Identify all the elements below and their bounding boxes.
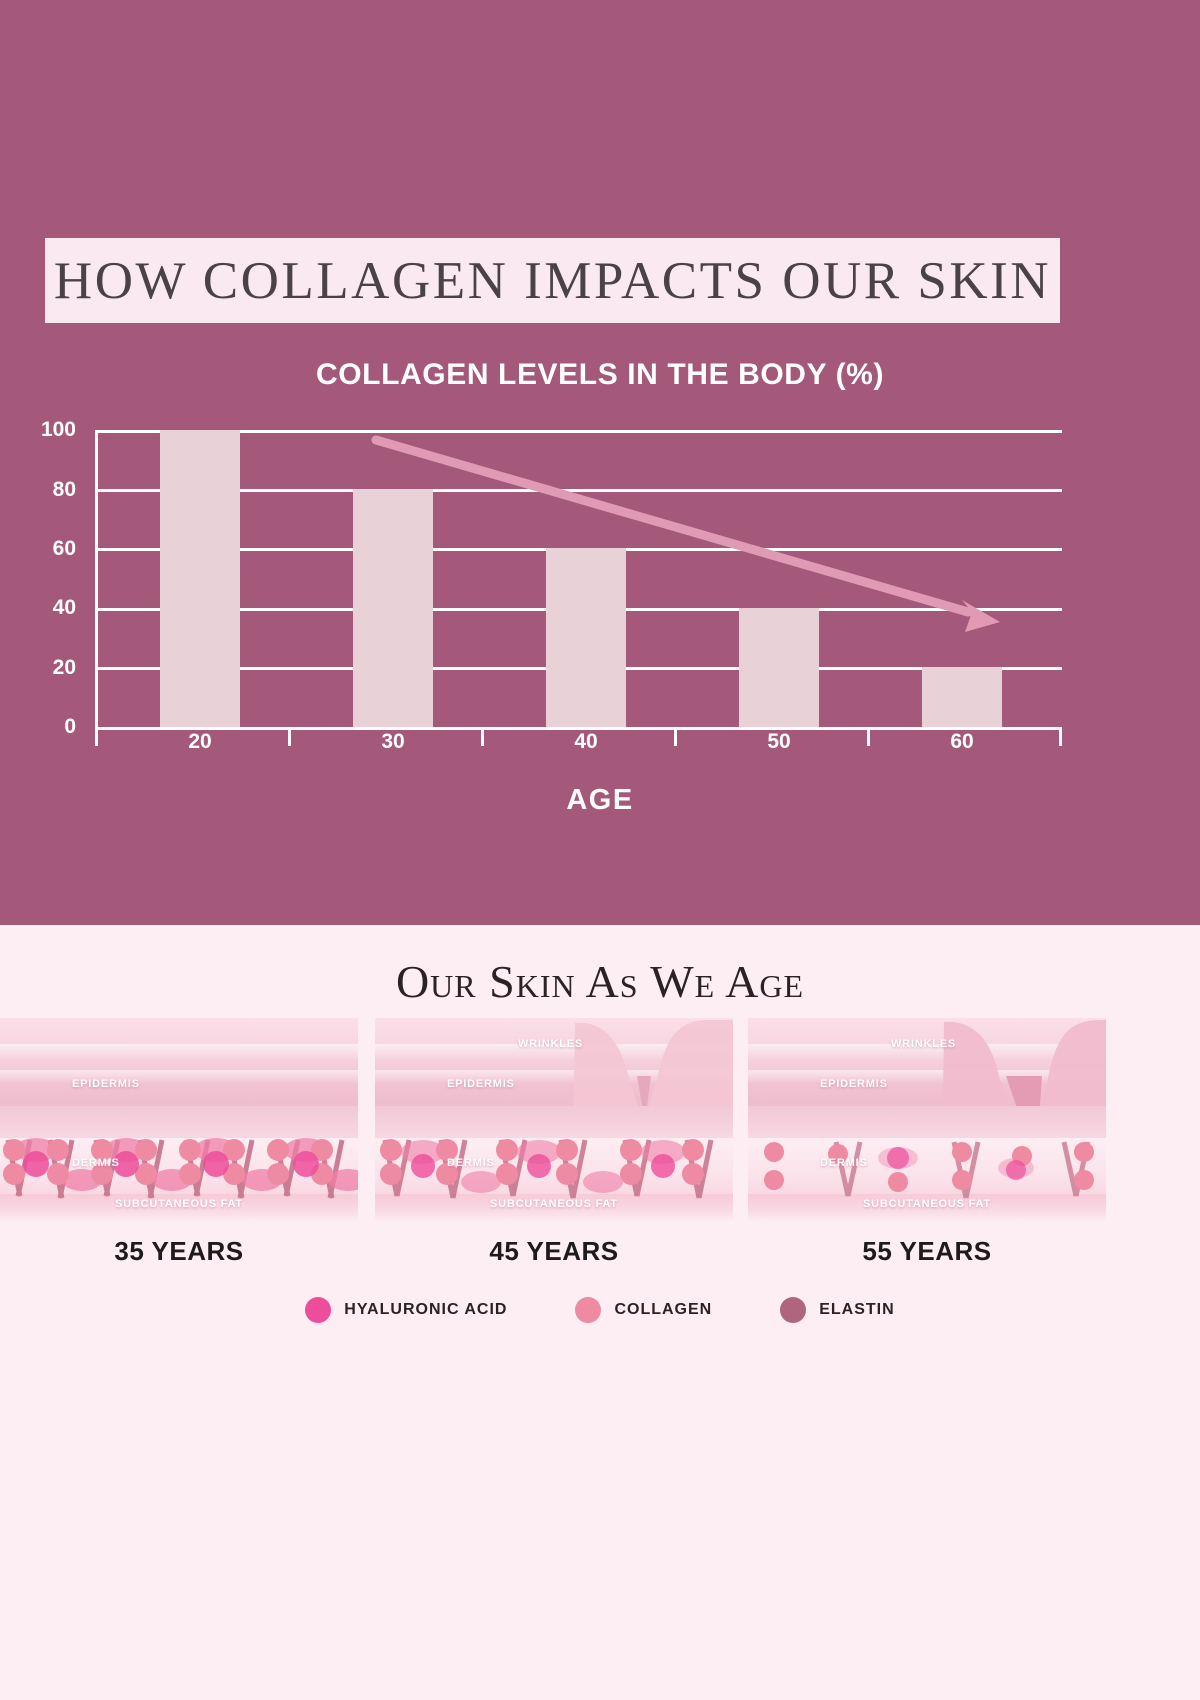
label-epidermis-45: EPIDERMIS [447,1078,515,1090]
chart-section: HOW COLLAGEN IMPACTS OUR SKIN COLLAGEN L… [0,0,1200,925]
label-wrinkles-45: WRINKLES [518,1038,583,1050]
collagen-bar-chart: 100 80 60 40 20 0 20 30 40 50 60 AGE [0,0,1200,925]
legend-label-hyaluronic-acid: HYALURONIC ACID [344,1301,507,1319]
collagen-swatch-icon [575,1297,601,1323]
label-dermis-45: DERMIS [447,1157,495,1169]
label-subfat-55: SUBCUTANEOUS FAT [748,1198,1106,1210]
panel-caption-55: 55 YEARS [748,1236,1106,1267]
label-wrinkles-55: WRINKLES [891,1038,956,1050]
panel-caption-45: 45 YEARS [375,1236,733,1267]
legend-label-elastin: ELASTIN [819,1301,894,1319]
skin-legend: HYALURONIC ACID COLLAGEN ELASTIN [0,1297,1200,1323]
label-dermis-35: DERMIS [72,1157,120,1169]
label-subfat-35: SUBCUTANEOUS FAT [0,1198,358,1210]
fiber-network-dense [0,1018,358,1223]
legend-label-collagen: COLLAGEN [614,1301,712,1319]
x-axis-title: AGE [0,784,1200,817]
label-epidermis-55: EPIDERMIS [820,1078,888,1090]
label-dermis-55: DERMIS [820,1157,868,1169]
label-epidermis-35: EPIDERMIS [72,1078,140,1090]
hyaluronic-acid-swatch-icon [305,1297,331,1323]
panel-caption-35: 35 YEARS [0,1236,358,1267]
label-subfat-45: SUBCUTANEOUS FAT [375,1198,733,1210]
elastin-swatch-icon [780,1297,806,1323]
legend-item-hyaluronic-acid: HYALURONIC ACID [305,1297,507,1323]
legend-item-elastin: ELASTIN [780,1297,894,1323]
skin-panel-35 [0,1018,358,1223]
legend-item-collagen: COLLAGEN [575,1297,712,1323]
section-heading: Our Skin As We Age [0,955,1200,1008]
